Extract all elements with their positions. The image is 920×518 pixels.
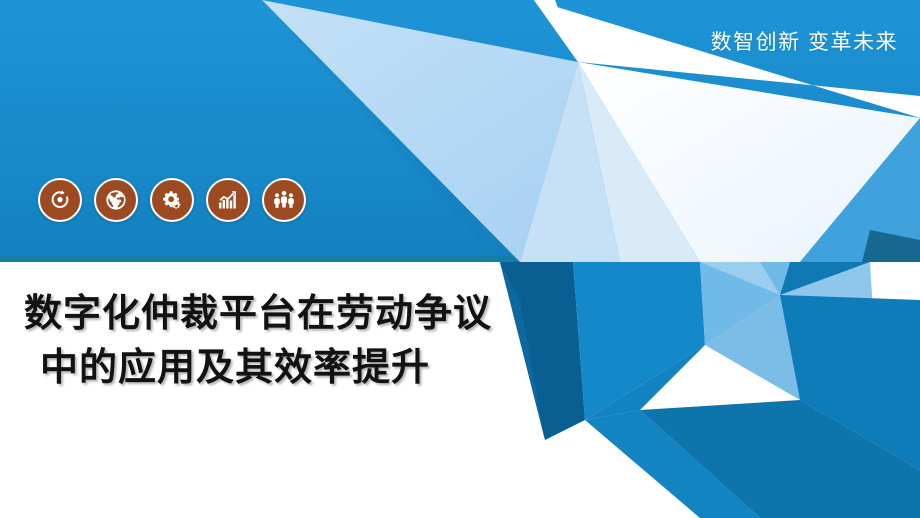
- slide-title-block: 数字化仲裁平台在劳动争议 中的应用及其效率提升: [24, 288, 584, 396]
- icon-badge-gears[interactable]: [150, 178, 194, 222]
- presentation-slide: 数智创新 变革未来: [0, 0, 920, 518]
- icon-row: [38, 178, 306, 222]
- people-group-icon: [272, 188, 296, 212]
- globe-icon: [104, 188, 128, 212]
- slide-tagline: 数智创新 变革未来: [711, 26, 898, 56]
- gears-icon: [160, 188, 184, 212]
- slide-title-line-1: 数字化仲裁平台在劳动争议: [24, 288, 584, 342]
- bar-chart-growth-icon: [216, 188, 240, 212]
- icon-badge-people-group[interactable]: [262, 178, 306, 222]
- icon-badge-globe[interactable]: [94, 178, 138, 222]
- icon-badge-bar-chart-growth[interactable]: [206, 178, 250, 222]
- refresh-target-icon: [48, 188, 72, 212]
- background-polygons: [0, 0, 920, 518]
- slide-title-line-2: 中的应用及其效率提升: [40, 342, 584, 396]
- icon-badge-refresh-target[interactable]: [38, 178, 82, 222]
